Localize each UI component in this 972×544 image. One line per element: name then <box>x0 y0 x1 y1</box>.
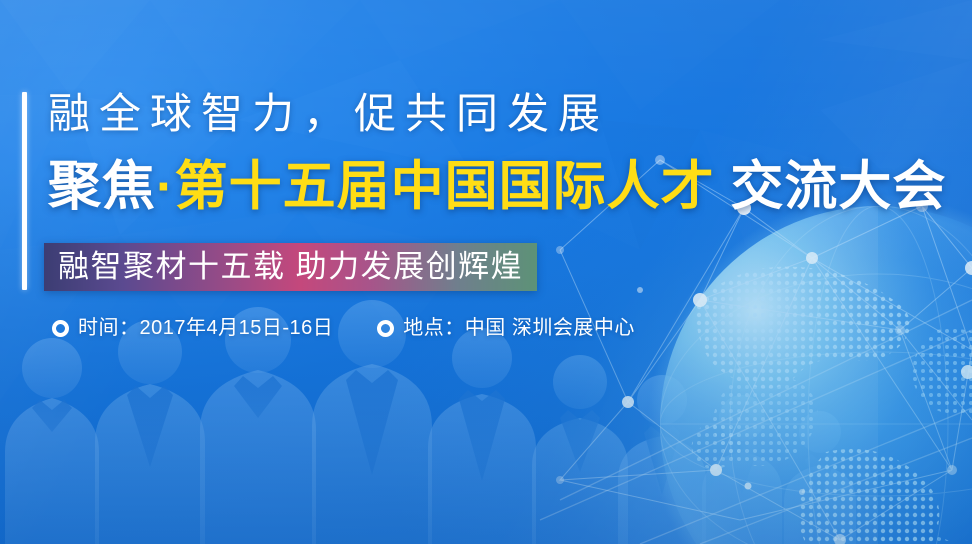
event-time-text: 时间：2017年4月15日-16日 <box>78 316 333 340</box>
ring-icon <box>377 320 394 337</box>
subtitle-banner: 融智聚材十五载 助力发展创辉煌 <box>44 243 537 291</box>
info-item-location: 地点：中国 深圳会展中心 <box>377 316 635 340</box>
title-part-edition: 第十五届中国国际人才 <box>175 157 715 216</box>
kicker-text: 融全球智力，促共同发展 <box>48 88 609 140</box>
event-location-text: 地点：中国 深圳会展中心 <box>403 316 635 340</box>
accent-bar <box>22 92 27 290</box>
banner-content: 融全球智力，促共同发展 聚焦·第十五届中国国际人才 交流大会 融智聚材十五载 助… <box>0 0 972 544</box>
info-item-time: 时间：2017年4月15日-16日 <box>52 316 333 340</box>
page-title: 聚焦·第十五届中国国际人才 交流大会 <box>48 155 946 219</box>
event-info-row: 时间：2017年4月15日-16日 地点：中国 深圳会展中心 <box>52 316 635 340</box>
conference-banner: 融全球智力，促共同发展 聚焦·第十五届中国国际人才 交流大会 融智聚材十五载 助… <box>0 0 972 544</box>
ring-icon <box>52 320 69 337</box>
title-part-conference: 交流大会 <box>715 157 947 216</box>
title-separator-dot: · <box>156 157 175 216</box>
title-part-focus: 聚焦 <box>48 157 156 216</box>
subtitle-text: 融智聚材十五载 助力发展创辉煌 <box>58 250 523 284</box>
